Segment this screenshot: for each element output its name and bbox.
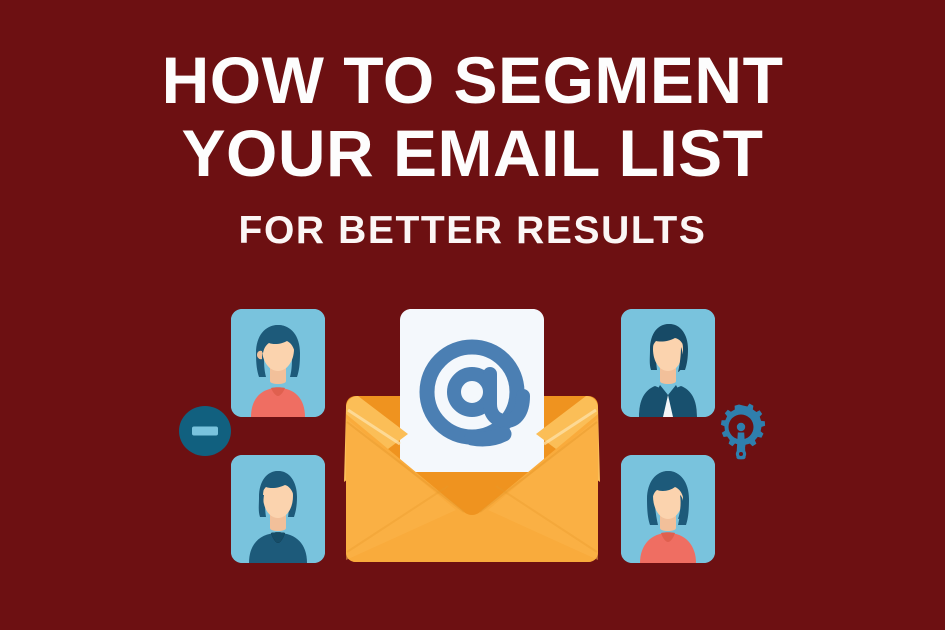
banner-canvas: HOW TO SEGMENT YOUR EMAIL LIST FOR BETTE…	[0, 0, 945, 630]
open-envelope	[344, 306, 600, 564]
avatar-card-top-right	[621, 309, 715, 417]
illustration-stage	[0, 0, 945, 630]
avatar-card-bottom-left	[231, 455, 325, 563]
minus-remove-icon	[178, 404, 232, 458]
gear-settings-icon	[712, 402, 770, 460]
avatar-card-top-left	[231, 309, 325, 417]
letter-sheet	[400, 309, 544, 472]
avatar-card-bottom-right	[621, 455, 715, 563]
